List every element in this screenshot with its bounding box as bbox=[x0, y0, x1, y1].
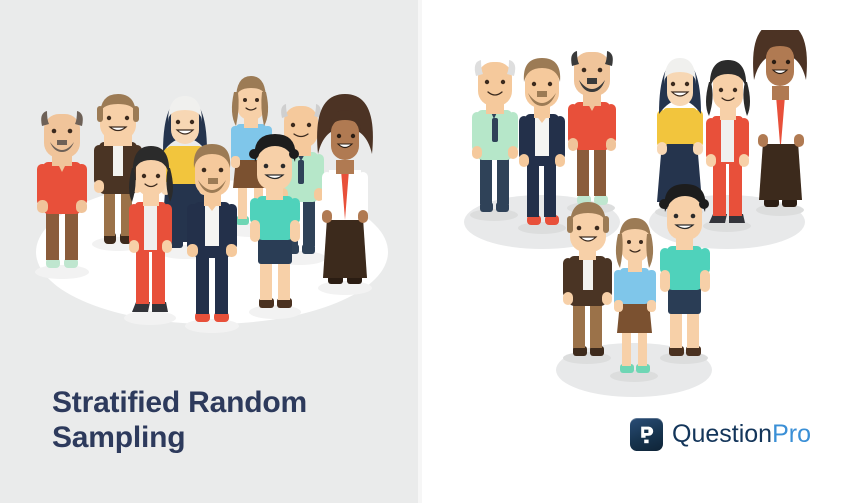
stratum-young-adults bbox=[556, 184, 712, 397]
title-line-1: Stratified Random bbox=[52, 385, 382, 420]
questionpro-logo-mark-icon bbox=[630, 418, 663, 451]
logo-word-pro: Pro bbox=[772, 420, 811, 448]
slide-canvas: Stratified Random Sampling QuestionPro bbox=[0, 0, 841, 503]
questionpro-wordmark: QuestionPro bbox=[672, 422, 811, 447]
person-white-haired-man-mint-shirt bbox=[470, 60, 518, 221]
person-woman-curly-white-jacket bbox=[753, 30, 807, 216]
question-p-icon bbox=[636, 424, 658, 446]
person-woman-curly-white-jacket bbox=[317, 94, 373, 295]
strata-illustration bbox=[422, 30, 841, 410]
page-title: Stratified Random Sampling bbox=[52, 385, 382, 455]
population-illustration bbox=[0, 30, 418, 350]
title-line-2: Sampling bbox=[52, 420, 382, 455]
questionpro-logo[interactable]: QuestionPro bbox=[630, 418, 811, 451]
person-man-brown-blazer bbox=[563, 202, 612, 364]
person-bald-bearded-man-red-sweater bbox=[567, 51, 616, 214]
logo-word-question: Question bbox=[672, 420, 772, 448]
